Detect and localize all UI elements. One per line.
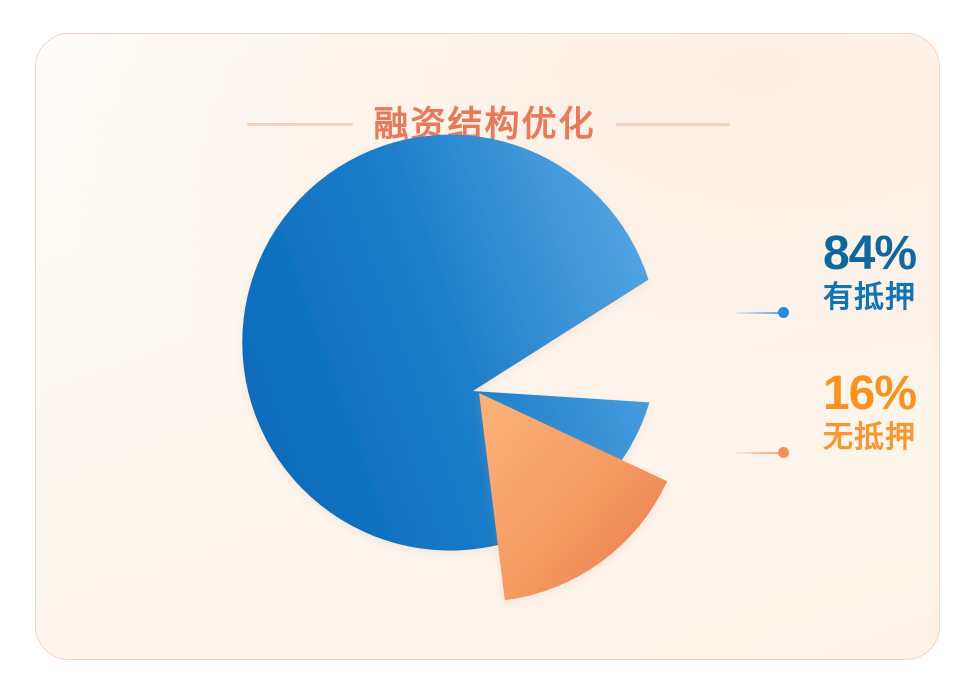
legend-label-mortgaged: 有抵押 [823,281,916,314]
legend-text-unmortgaged: 16% 无抵押 [798,370,940,456]
legend-dot-mortgaged [778,307,789,318]
chart-screenshot: 融资结构优化 [0,0,977,697]
legend-label-unmortgaged: 无抵押 [823,421,916,454]
legend-dot-unmortgaged [778,447,789,458]
legend-item-unmortgaged[interactable]: 16% 无抵押 [736,370,940,490]
title-rule-left-decoration [247,123,353,126]
chart-legend: 84% 有抵押 16% 无抵押 [736,34,940,660]
legend-item-mortgaged[interactable]: 84% 有抵押 [736,230,940,350]
legend-leader-line-unmortgaged [736,452,784,454]
legend-leader-line-mortgaged [736,312,784,314]
page-title: 融资结构优化 [373,107,595,142]
legend-text-mortgaged: 84% 有抵押 [798,230,940,316]
legend-value-mortgaged: 84% [823,227,916,280]
pie-slice-unmortgaged [479,393,667,600]
title-rule-right-decoration [616,123,730,126]
legend-value-unmortgaged: 16% [823,367,916,420]
pie-slice-mortgaged [242,135,649,551]
chart-card: 融资结构优化 [35,33,940,660]
